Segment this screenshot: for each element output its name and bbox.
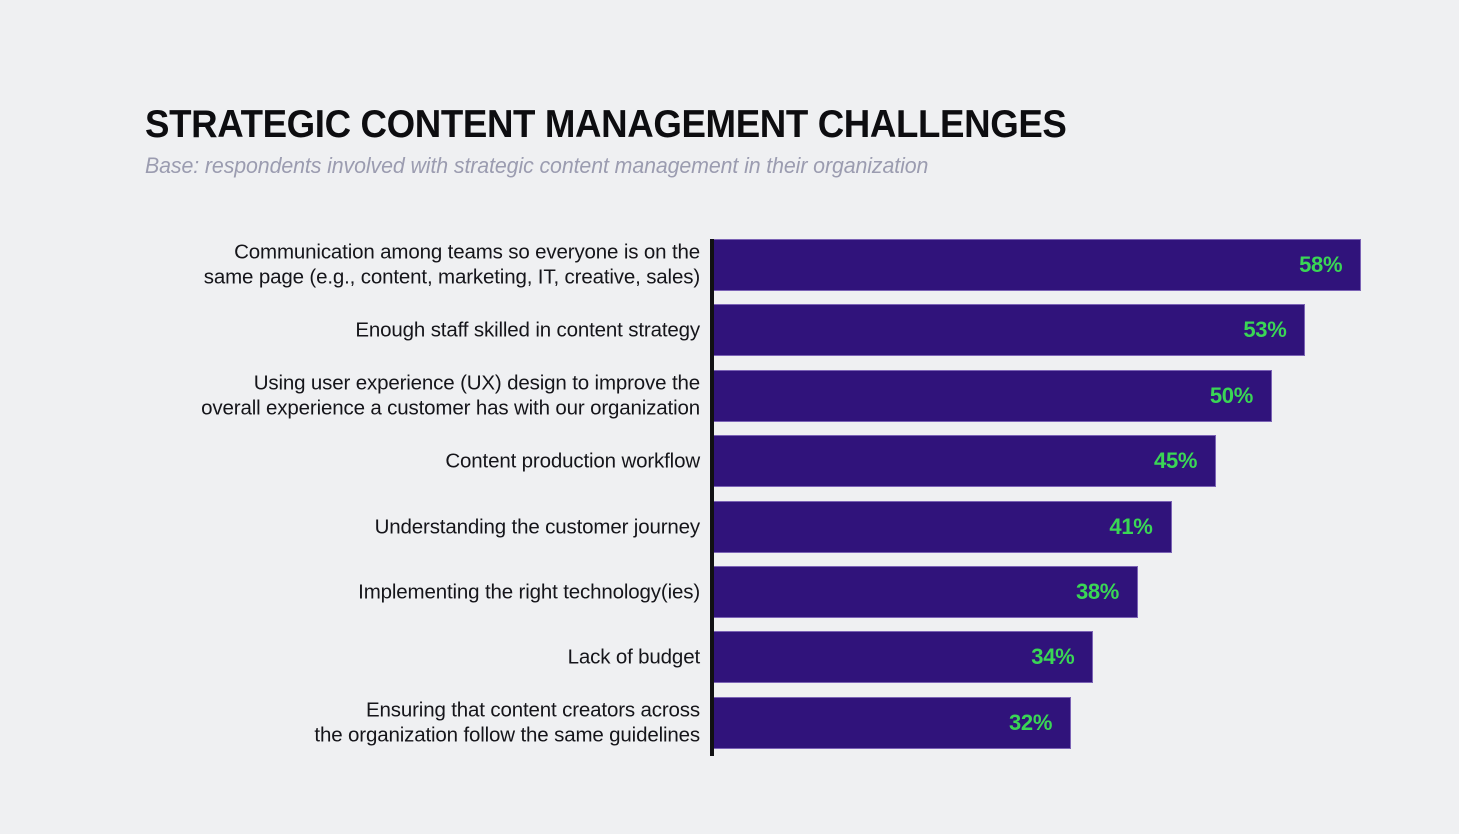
bar-value-label: 45% <box>1154 448 1215 474</box>
bar: 34% <box>714 631 1093 683</box>
page-title: STRATEGIC CONTENT MANAGEMENT CHALLENGES <box>145 104 1273 145</box>
bar-row: Communication among teams so everyone is… <box>0 239 1459 291</box>
bar-category-label: Content production workflow <box>80 448 700 473</box>
plot-area: Communication among teams so everyone is… <box>0 239 1459 759</box>
bar-category-label: Enough staff skilled in content strategy <box>80 318 700 343</box>
bar-row: Using user experience (UX) design to imp… <box>0 370 1459 422</box>
chart-subtitle: Base: respondents involved with strategi… <box>145 153 1309 179</box>
bar-category-label: Lack of budget <box>80 645 700 670</box>
bar-value-label: 41% <box>1109 514 1170 540</box>
bar-row: Enough staff skilled in content strategy… <box>0 304 1459 356</box>
bar-category-label: Using user experience (UX) design to imp… <box>80 370 700 421</box>
bar-row: Content production workflow45% <box>0 435 1459 487</box>
bar-value-label: 53% <box>1243 317 1304 343</box>
bar-value-label: 50% <box>1210 383 1271 409</box>
bar-row: Lack of budget34% <box>0 631 1459 683</box>
bar: 32% <box>714 697 1071 749</box>
bar: 58% <box>714 239 1361 291</box>
bar: 38% <box>714 566 1138 618</box>
bar-value-label: 58% <box>1299 252 1360 278</box>
bar-row: Implementing the right technology(ies)38… <box>0 566 1459 618</box>
bar-category-label: Understanding the customer journey <box>80 514 700 539</box>
chart-container: STRATEGIC CONTENT MANAGEMENT CHALLENGES … <box>0 0 1459 834</box>
bar-value-label: 32% <box>1009 710 1070 736</box>
bar-category-label: Ensuring that content creators across th… <box>80 697 700 748</box>
bar-row: Ensuring that content creators across th… <box>0 697 1459 749</box>
bar-category-label: Implementing the right technology(ies) <box>80 579 700 604</box>
chart-header: STRATEGIC CONTENT MANAGEMENT CHALLENGES … <box>145 104 1345 179</box>
bar: 45% <box>714 435 1216 487</box>
bar-value-label: 34% <box>1031 644 1092 670</box>
bar: 53% <box>714 304 1305 356</box>
bar-row: Understanding the customer journey41% <box>0 501 1459 553</box>
bar: 50% <box>714 370 1272 422</box>
bar-value-label: 38% <box>1076 579 1137 605</box>
bar-category-label: Communication among teams so everyone is… <box>80 240 700 291</box>
bar: 41% <box>714 501 1172 553</box>
